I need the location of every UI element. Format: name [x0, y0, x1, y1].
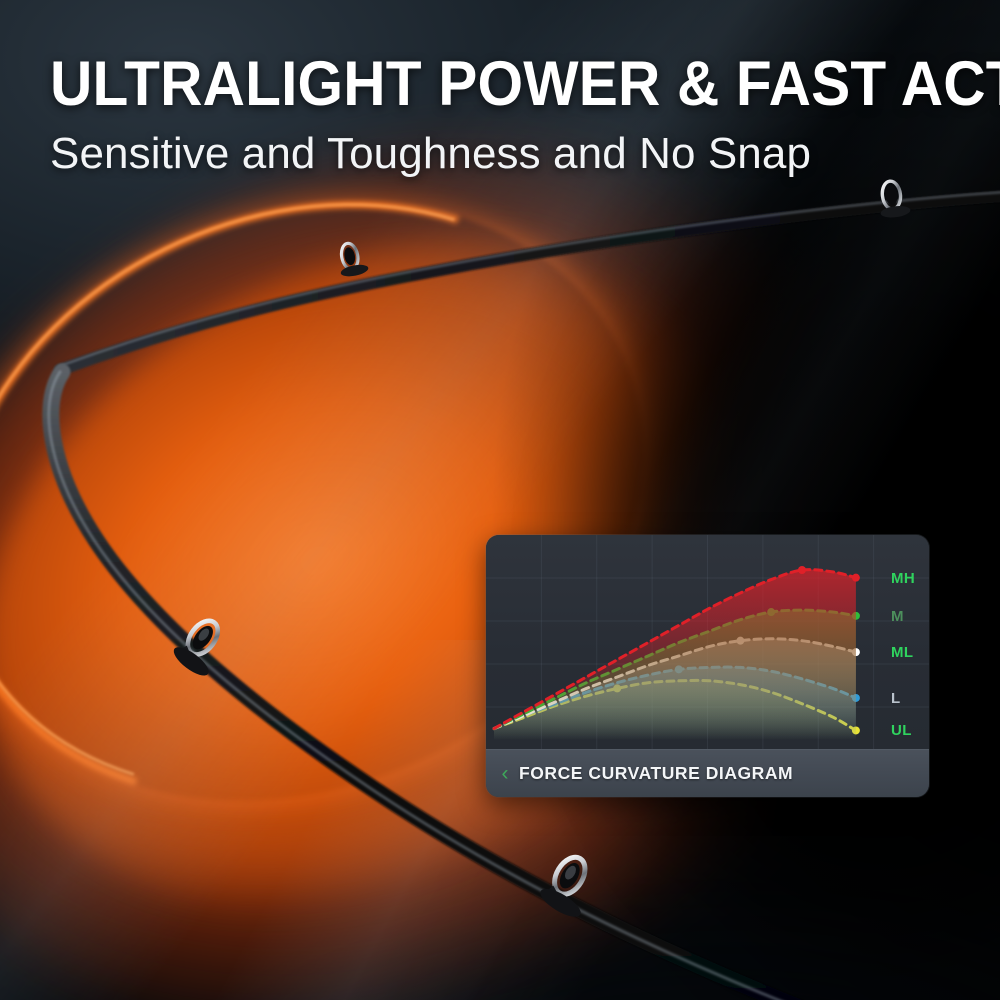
rod-upper-blank [60, 196, 1000, 370]
page-subtitle: Sensitive and Toughness and No Snap [50, 130, 811, 178]
page-title: ULTRALIGHT POWER & FAST ACTION [50, 52, 896, 116]
chart-legend-m: M [891, 609, 904, 624]
chart-plot-area: ULLMLMMH [486, 535, 929, 750]
chart-legend-l: L [891, 691, 901, 706]
force-curvature-panel: ULLMLMMH ‹ FORCE CURVATURE DIAGRAM [486, 535, 929, 797]
panel-caption-label: FORCE CURVATURE DIAGRAM [519, 763, 793, 784]
chevron-left-icon[interactable]: ‹ [499, 765, 511, 783]
chart-area-mh [494, 570, 856, 740]
chart-legend-ul: UL [891, 723, 912, 738]
chart-legend-mh: MH [891, 571, 915, 586]
panel-caption-bar[interactable]: ‹ FORCE CURVATURE DIAGRAM [486, 749, 929, 797]
chart-curves [486, 535, 929, 750]
chart-endpoint-mh [852, 574, 860, 582]
chart-legend-ml: ML [891, 645, 913, 660]
chart-peak-marker-mh [798, 566, 806, 574]
promo-image-stage: ULTRALIGHT POWER & FAST ACTION Sensitive… [0, 0, 1000, 1000]
rod-upper-highlight [60, 192, 1000, 366]
rod-guide-upper-left [335, 240, 369, 278]
